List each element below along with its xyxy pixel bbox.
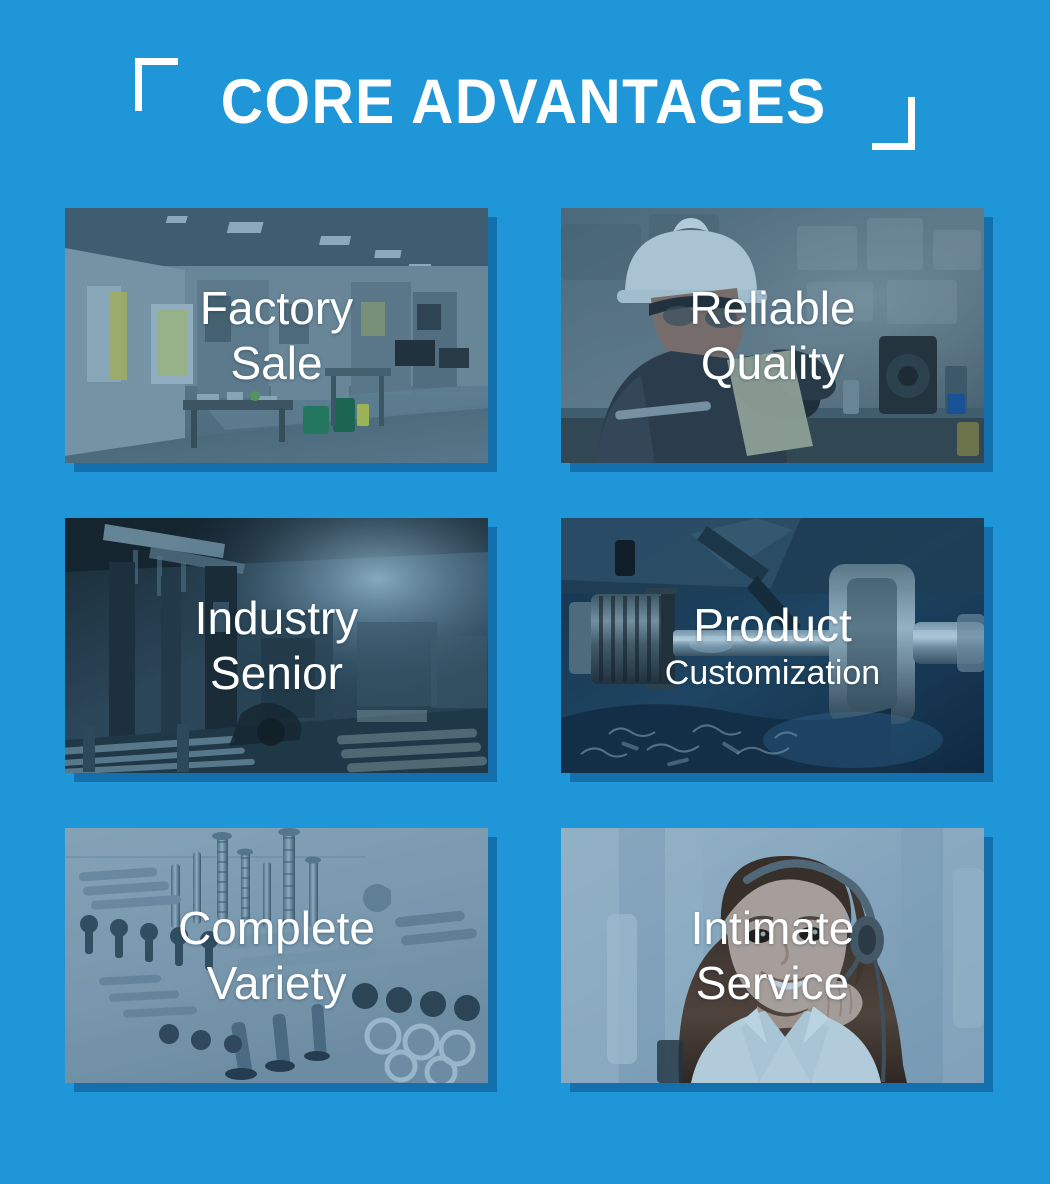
title-row: CORE ADVANTAGES (0, 52, 1050, 152)
core-advantages-banner: CORE ADVANTAGES (0, 0, 1050, 1184)
card-image-tint (561, 828, 984, 1083)
top-left-corner-bracket-icon (135, 58, 178, 111)
card-image-tint (65, 208, 488, 463)
advantage-card-complete-variety[interactable]: Complete Variety (65, 828, 488, 1083)
card-image-tint (561, 518, 984, 773)
header: CORE ADVANTAGES (0, 0, 1050, 180)
card-image-tint (65, 518, 488, 773)
advantage-card-industry-senior[interactable]: Industry Senior (65, 518, 488, 773)
page-title: CORE ADVANTAGES (221, 71, 827, 134)
advantage-card-intimate-service[interactable]: Intimate Service (561, 828, 984, 1083)
advantage-card-factory-sale[interactable]: Factory Sale (65, 208, 488, 463)
card-image-tint (65, 828, 488, 1083)
bottom-right-corner-bracket-icon (872, 97, 915, 150)
card-image-tint (561, 208, 984, 463)
advantage-card-grid: Factory Sale (65, 208, 985, 1083)
advantage-card-reliable-quality[interactable]: Reliable Quality (561, 208, 984, 463)
advantage-card-product-customization[interactable]: Product Customization (561, 518, 984, 773)
